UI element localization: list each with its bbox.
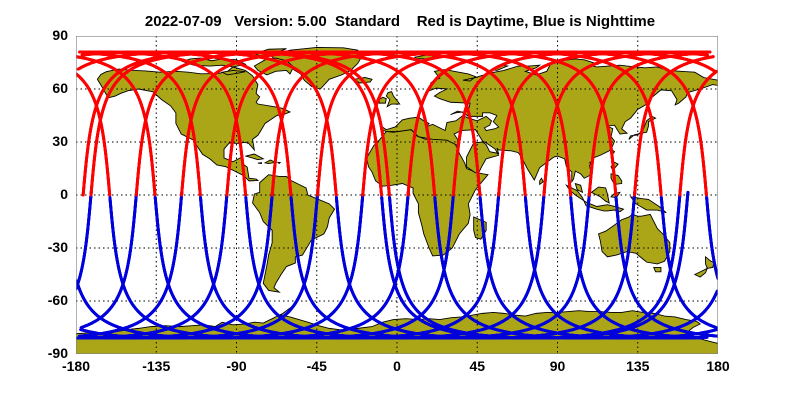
x-axis-tick-label: 180 xyxy=(688,358,748,374)
x-axis-tick-label: -45 xyxy=(287,358,347,374)
y-axis-tick-label: 0 xyxy=(6,186,68,202)
x-axis-tick-label: -90 xyxy=(207,358,267,374)
landmass-polygon xyxy=(258,163,262,164)
map-plot-area xyxy=(76,36,718,354)
landmass-polygon xyxy=(654,267,661,271)
x-axis-tick-label: 45 xyxy=(447,358,507,374)
y-axis-tick-label: -60 xyxy=(6,292,68,308)
x-axis-tick-label: 0 xyxy=(367,358,427,374)
satellite-ground-track-figure: 2022-07-09 Version: 5.00 Standard Red is… xyxy=(0,0,800,400)
y-axis-tick-label: 30 xyxy=(6,133,68,149)
x-axis-tick-label: -180 xyxy=(46,358,106,374)
x-axis-tick-label: 135 xyxy=(608,358,668,374)
y-axis-tick-label: -30 xyxy=(6,239,68,255)
y-axis-tick-label: 60 xyxy=(6,80,68,96)
x-axis-tick-label: 90 xyxy=(528,358,588,374)
map-svg xyxy=(76,36,718,354)
y-axis-tick-label: 90 xyxy=(6,27,68,43)
figure-title: 2022-07-09 Version: 5.00 Standard Red is… xyxy=(0,13,800,30)
x-axis-tick-label: -135 xyxy=(126,358,186,374)
